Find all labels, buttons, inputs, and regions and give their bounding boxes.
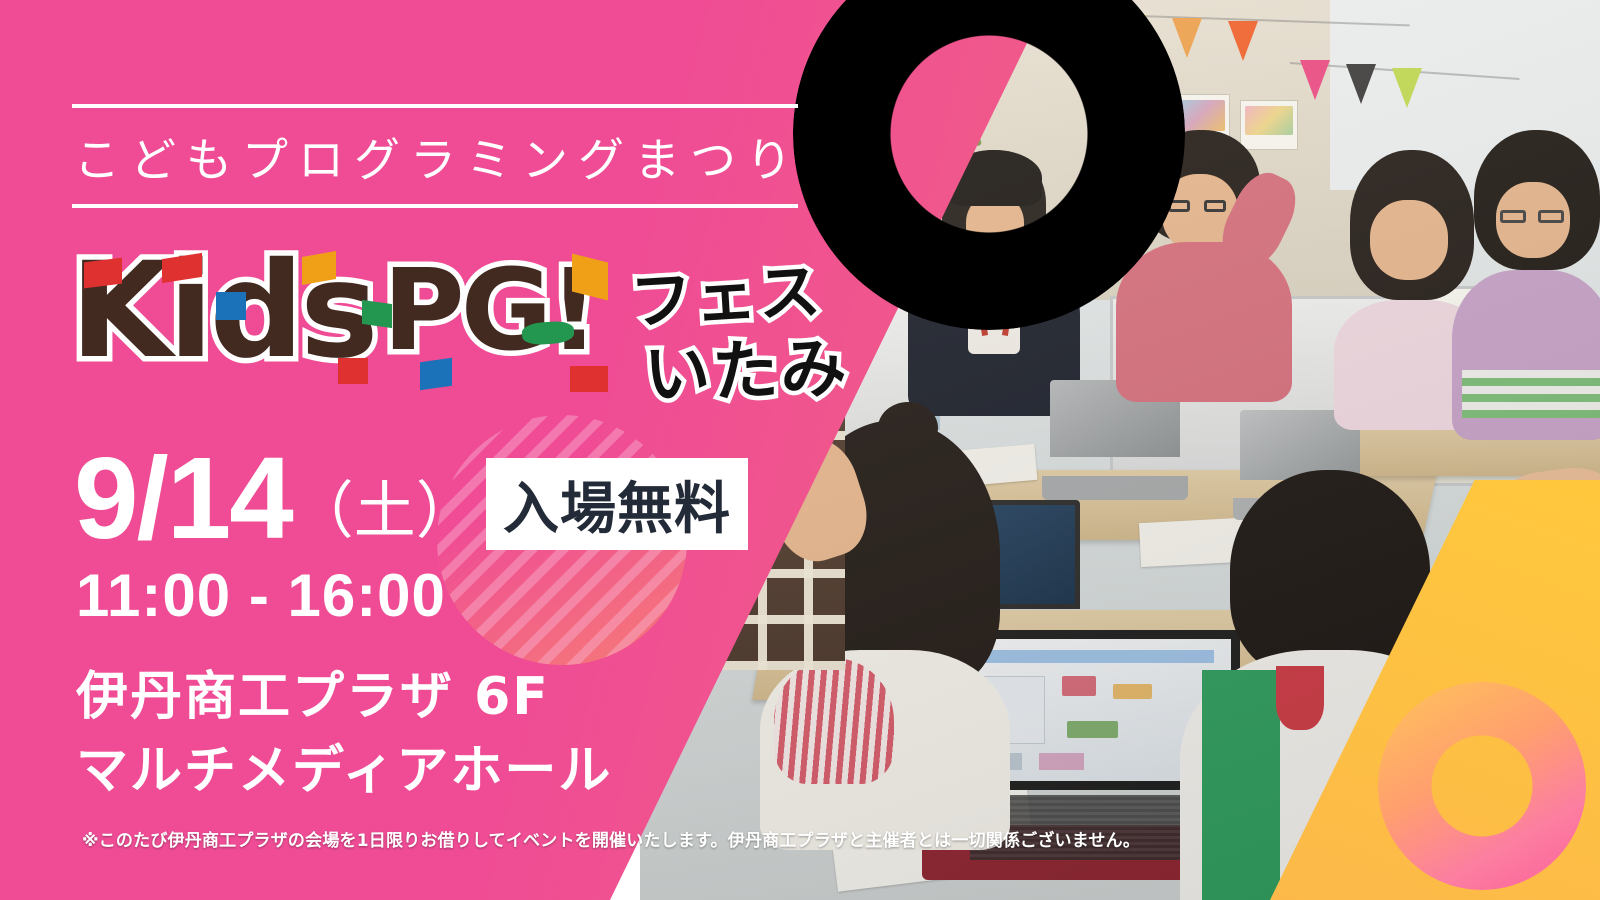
- poster-content: こどもプログラミングまつり Kids PG! フェス いたみ: [0, 0, 1100, 900]
- logo-accent-red: [84, 258, 122, 289]
- event-poster: こどもプログラミングまつり Kids PG! フェス いたみ: [0, 0, 1600, 900]
- logo-accent-blue: [420, 358, 452, 390]
- logo-accent-orange: [302, 251, 336, 285]
- venue-block: 伊丹商工プラザ 6F マルチメディアホール: [76, 660, 612, 808]
- date-number: 9/14: [74, 433, 292, 563]
- kicker-text: こどもプログラミングまつり: [72, 108, 798, 204]
- rule-bottom: [72, 204, 798, 208]
- event-date: 9/14（土）: [74, 440, 478, 569]
- logo-accent-red: [570, 366, 608, 392]
- event-logo: Kids PG! フェス いたみ: [70, 248, 830, 408]
- event-time: 11:00 - 16:00: [76, 566, 446, 626]
- logo-japanese: フェス いたみ: [626, 240, 894, 416]
- logo-word-sub: PG!: [383, 248, 596, 374]
- logo-accent-green: [362, 300, 392, 328]
- donut-ring-small: [1378, 682, 1586, 890]
- disclaimer-note: ※このたび伊丹商工プラザの会場を1日限りお借りしてイベントを開催いたします。伊丹…: [82, 826, 1140, 851]
- free-admission-badge: 入場無料: [486, 458, 748, 550]
- venue-line-2: マルチメディアホール: [76, 734, 612, 808]
- logo-accent-blue: [216, 292, 246, 320]
- logo-accent-red: [338, 358, 368, 384]
- badge-label: 入場無料: [503, 464, 731, 545]
- kicker-block: こどもプログラミングまつり: [72, 104, 798, 208]
- logo-jp-line2: いたみ: [642, 314, 849, 417]
- date-day-of-week: （土）: [292, 474, 478, 547]
- venue-line-1: 伊丹商工プラザ 6F: [76, 660, 612, 734]
